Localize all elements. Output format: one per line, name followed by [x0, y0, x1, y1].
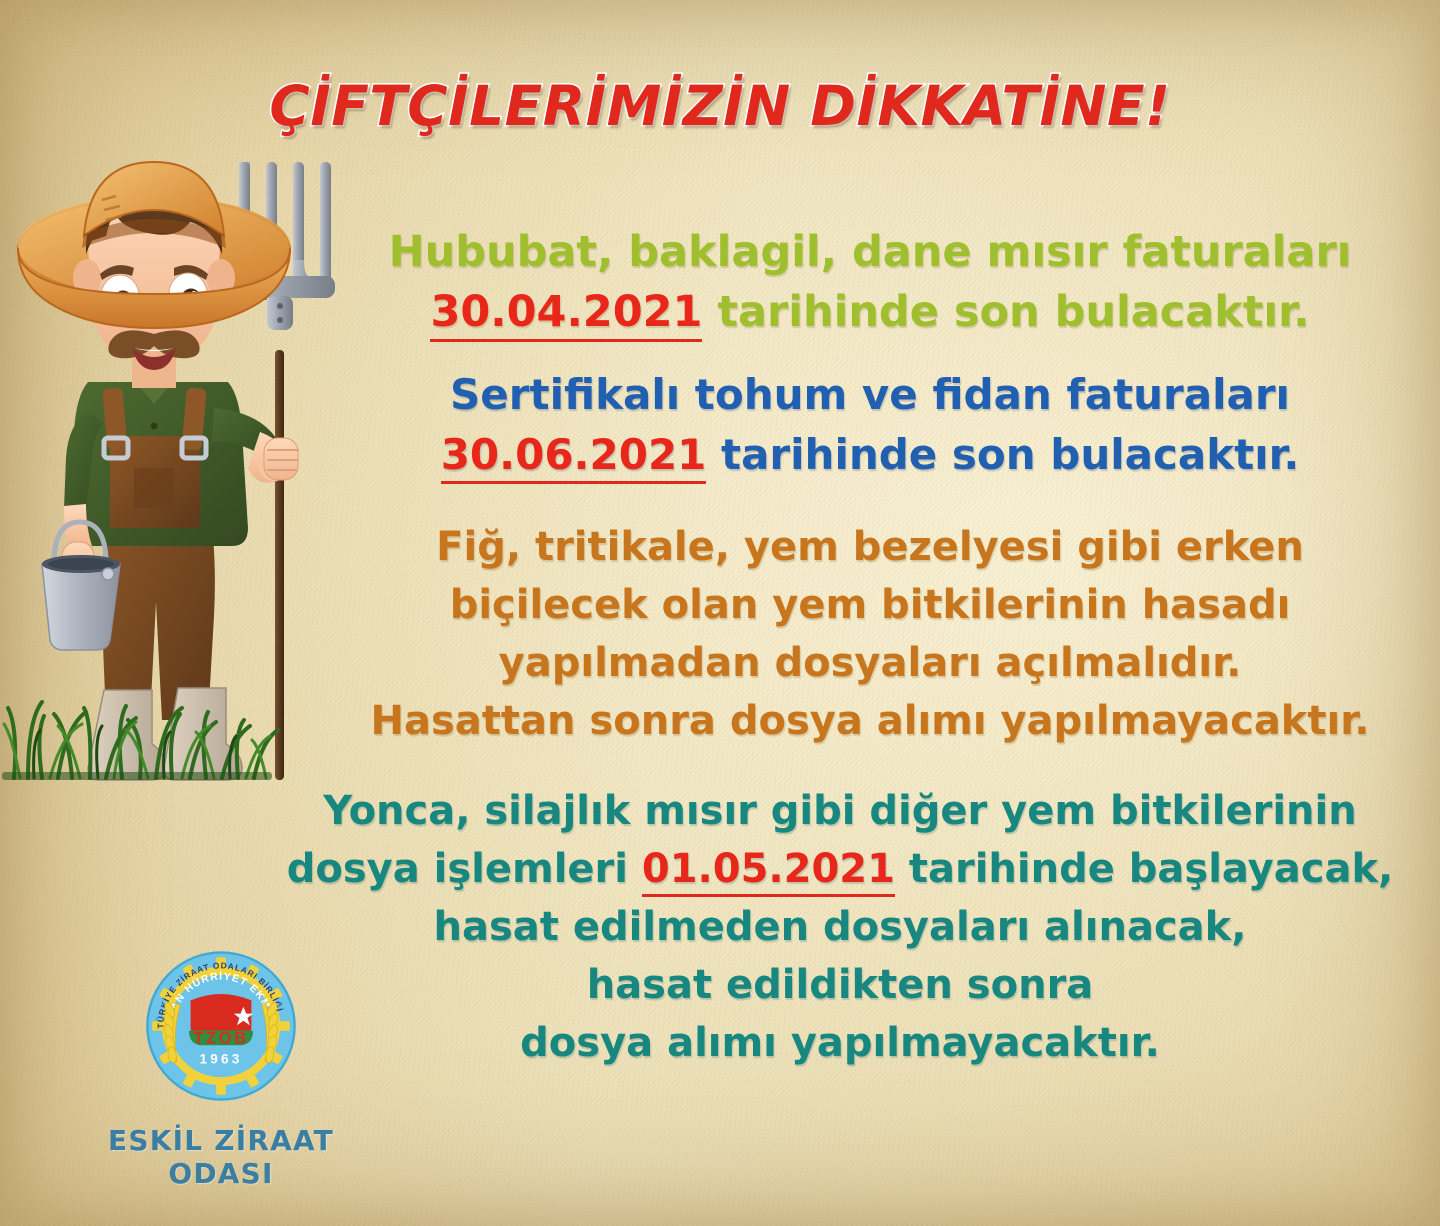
announcement-line: biçilecek olan yem bitkilerinin hasadı [330, 576, 1410, 634]
tzob-logo: TÜRKİYE ZİRAAT ODALARI BİRLİĞİ VATAN HÜR… [141, 946, 301, 1106]
announcement-line: dosya alımı yapılmayacaktır. [270, 1014, 1410, 1072]
announcement-text: hasat edildikten sonra [587, 962, 1094, 1008]
poster-canvas: ÇİFTÇİLERİMİZİN DİKKATİNE! Hububat, bakl… [0, 0, 1440, 1226]
announcement-block-early-forage: Fiğ, tritikale, yem bezelyesi gibi erken… [330, 518, 1410, 750]
deadline-date: 30.06.2021 [441, 430, 707, 484]
announcement-line: Yonca, silajlık mısır gibi diğer yem bit… [270, 782, 1410, 840]
announcement-text: yapılmadan dosyaları açılmalıdır. [499, 640, 1242, 686]
announcement-text: Fiğ, tritikale, yem bezelyesi gibi erken [436, 524, 1304, 570]
announcement-line: Sertifikalı tohum ve fidan faturaları [360, 365, 1380, 425]
deadline-date: 01.05.2021 [642, 846, 895, 897]
announcement-line: Hububat, baklagil, dane mısır faturaları [360, 222, 1380, 282]
announcement-text: hasat edilmeden dosyaları alınacak, [434, 904, 1247, 950]
announcement-text: Sertifikalı tohum ve fidan faturaları [450, 370, 1290, 419]
announcement-line: 30.04.2021 tarihinde son bulacaktır. [360, 282, 1380, 342]
announcement-line: hasat edilmeden dosyaları alınacak, [270, 898, 1410, 956]
announcement-block-certified-seed: Sertifikalı tohum ve fidan faturaları30.… [360, 365, 1380, 485]
announcement-line: yapılmadan dosyaları açılmalıdır. [330, 634, 1410, 692]
logo-year: 1963 [199, 1052, 242, 1067]
announcement-line: hasat edildikten sonra [270, 956, 1410, 1014]
announcement-text: Hububat, baklagil, dane mısır faturaları [389, 227, 1352, 277]
organization-name: ESKİL ZİRAAT ODASI [56, 1124, 386, 1190]
announcement-block-other-forage: Yonca, silajlık mısır gibi diğer yem bit… [270, 782, 1410, 1072]
logo-acronym: TZOB [193, 1029, 248, 1048]
brand-footer: TÜRKİYE ZİRAAT ODALARI BİRLİĞİ VATAN HÜR… [56, 946, 386, 1190]
announcement-line: Hasattan sonra dosya alımı yapılmayacakt… [330, 692, 1410, 750]
announcement-text: tarihinde başlayacak, [895, 846, 1393, 892]
announcement-line: dosya işlemleri 01.05.2021 tarihinde baş… [270, 840, 1410, 898]
announcement-line: Fiğ, tritikale, yem bezelyesi gibi erken [330, 518, 1410, 576]
announcement-block-cereals: Hububat, baklagil, dane mısır faturaları… [360, 222, 1380, 342]
announcement-text: tarihinde son bulacaktır. [702, 287, 1309, 337]
announcement-text: Yonca, silajlık mısır gibi diğer yem bit… [323, 788, 1356, 834]
grass-tuft-decoration [0, 640, 324, 780]
deadline-date: 30.04.2021 [430, 287, 702, 342]
right-hand [264, 438, 298, 480]
announcement-text: dosya işlemleri [287, 846, 642, 892]
poster-title-wrap: ÇİFTÇİLERİMİZİN DİKKATİNE! [0, 74, 1440, 138]
announcement-text: Hasattan sonra dosya alımı yapılmayacakt… [371, 698, 1370, 744]
announcement-text: biçilecek olan yem bitkilerinin hasadı [450, 582, 1291, 628]
announcement-text: tarihinde son bulacaktır. [706, 430, 1299, 479]
announcement-text: dosya alımı yapılmayacaktır. [520, 1020, 1160, 1066]
announcement-line: 30.06.2021 tarihinde son bulacaktır. [360, 425, 1380, 485]
page-title: ÇİFTÇİLERİMİZİN DİKKATİNE! [269, 74, 1170, 138]
